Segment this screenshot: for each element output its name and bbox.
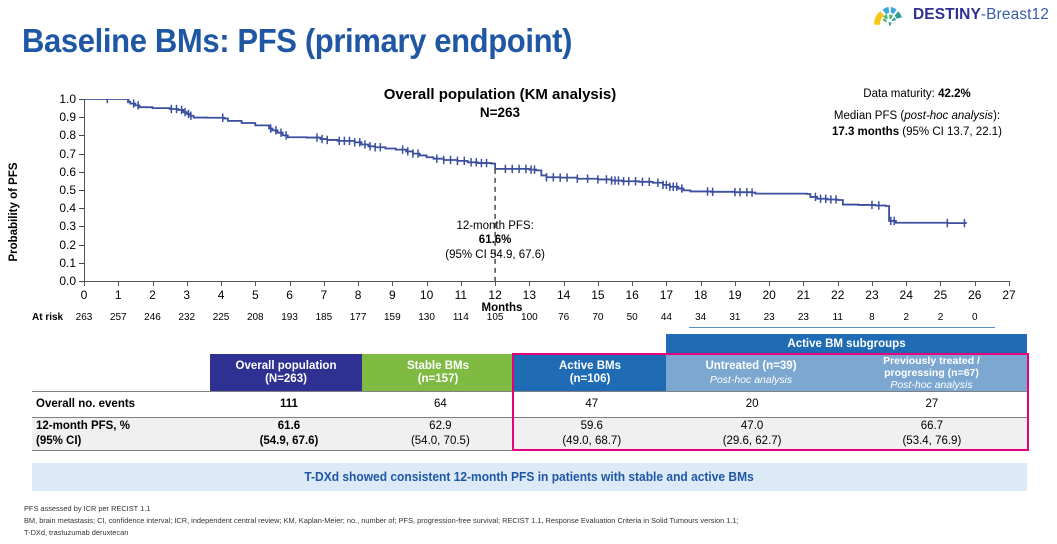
x-tick-label: 22 <box>831 288 844 302</box>
at-risk-value: 23 <box>798 312 809 323</box>
table-cell: 66.7(53.4, 76.9) <box>837 419 1027 448</box>
at-risk-value: 257 <box>110 312 127 323</box>
table-column-header: Stable BMs(n=157) <box>362 354 514 392</box>
cell-value: 62.9 <box>365 419 516 433</box>
y-tick-label: 0.5 <box>50 183 76 197</box>
y-tick-label: 0.9 <box>50 110 76 124</box>
table-cell: 61.6(54.9, 67.6) <box>213 419 364 448</box>
destiny-breast12-logo: DESTINY-Breast12 <box>872 3 1049 27</box>
y-tick-label: 0.6 <box>50 165 76 179</box>
column-header-sub: (N=263) <box>265 373 307 386</box>
table-cell: 64 <box>365 397 516 411</box>
table-divider <box>32 391 1027 392</box>
x-tick-mark <box>598 281 599 286</box>
x-tick-label: 11 <box>455 288 467 302</box>
x-tick-label: 3 <box>183 288 190 302</box>
x-tick-mark <box>940 281 941 286</box>
column-header-posthoc: Post-hoc analysis <box>710 374 792 386</box>
at-risk-value: 114 <box>453 312 469 323</box>
x-tick-mark <box>290 281 291 286</box>
at-risk-value: 70 <box>592 312 603 323</box>
y-tick-label: 0.3 <box>50 219 76 233</box>
x-tick-label: 26 <box>968 288 981 302</box>
x-tick-mark <box>153 281 154 286</box>
x-tick-label: 19 <box>728 288 741 302</box>
at-risk-value: 105 <box>487 312 504 323</box>
at-risk-value: 177 <box>350 312 367 323</box>
cell-ci: (53.4, 76.9) <box>837 434 1027 448</box>
cell-ci: (54.0, 70.5) <box>365 434 516 448</box>
x-tick-label: 9 <box>389 288 396 302</box>
at-risk-value: 2 <box>903 312 909 323</box>
x-tick-mark <box>906 281 907 286</box>
column-header-title: Stable BMs <box>407 360 469 373</box>
column-header-title: Active BMs <box>559 360 621 373</box>
cell-value: 111 <box>213 397 364 411</box>
at-risk-value: 130 <box>418 312 435 323</box>
table-divider <box>32 450 1027 451</box>
x-tick-label: 18 <box>694 288 707 302</box>
x-tick-mark <box>1009 281 1010 286</box>
km-chart: Overall population (KM analysis) N=263 D… <box>0 86 1057 296</box>
x-tick-mark <box>255 281 256 286</box>
cell-value: 47.0 <box>667 419 836 433</box>
row-label-line1: 12-month PFS, % <box>36 419 213 433</box>
y-tick-label: 1.0 <box>50 92 76 106</box>
x-tick-mark <box>324 281 325 286</box>
column-header-sub: (n=157) <box>418 373 459 386</box>
y-tick-label: 0.8 <box>50 128 76 142</box>
x-tick-mark <box>495 281 496 286</box>
table-cell: 47.0(29.6, 62.7) <box>667 419 836 448</box>
cell-value: 64 <box>365 397 516 411</box>
cell-ci: (49.0, 68.7) <box>516 434 667 448</box>
table-row: Overall no. events11164472027 <box>32 392 1027 417</box>
at-risk-value: 34 <box>695 312 706 323</box>
x-tick-mark <box>221 281 222 286</box>
conclusion-text: T-DXd showed consistent 12-month PFS in … <box>305 470 754 484</box>
x-tick-label: 16 <box>625 288 638 302</box>
x-tick-label: 5 <box>252 288 259 302</box>
column-header-sub: (n=106) <box>570 373 611 386</box>
table-column-header: Active BMs(n=106) <box>514 354 666 392</box>
table-cell: 47 <box>516 397 667 411</box>
x-tick-mark <box>529 281 530 286</box>
table-group-header: Active BM subgroups <box>666 334 1027 354</box>
at-risk-value: 100 <box>521 312 538 323</box>
at-risk-value: 232 <box>178 312 195 323</box>
x-tick-mark <box>975 281 976 286</box>
x-axis-line <box>84 281 1009 282</box>
y-axis-label: Probability of PFS <box>8 162 20 261</box>
y-tick-label: 0.7 <box>50 147 76 161</box>
footnote-3: T-DXd, trastuzumab deruxtecan <box>24 527 1044 539</box>
at-risk-value: 44 <box>661 312 672 323</box>
at-risk-value: 76 <box>558 312 569 323</box>
at-risk-value: 225 <box>213 312 230 323</box>
row-label-line2: (95% CI) <box>36 434 213 448</box>
twelve-month-annotation: 12-month PFS: 61.6% (95% CI 54.9, 67.6) <box>410 219 580 262</box>
x-tick-mark <box>461 281 462 286</box>
cell-value: 27 <box>837 397 1027 411</box>
at-risk-value: 263 <box>76 312 93 323</box>
twelve-month-value: 61.6% <box>410 233 580 247</box>
at-risk-value: 31 <box>729 312 740 323</box>
x-tick-label: 27 <box>1002 288 1015 302</box>
table-row: 12-month PFS, %(95% CI)61.6(54.9, 67.6)6… <box>32 417 1027 450</box>
x-tick-label: 23 <box>865 288 878 302</box>
conclusion-banner: T-DXd showed consistent 12-month PFS in … <box>32 463 1027 491</box>
x-tick-label: 4 <box>218 288 225 302</box>
footnotes: PFS assessed by ICR per RECIST 1.1 BM, b… <box>24 503 1044 540</box>
page-title: Baseline BMs: PFS (primary endpoint) <box>22 22 572 60</box>
x-tick-label: 14 <box>557 288 570 302</box>
row-label: Overall no. events <box>32 397 213 411</box>
x-tick-label: 12 <box>488 288 501 302</box>
at-risk-value: 11 <box>833 312 843 323</box>
table-column-header: Previously treated /progressing (n=67)Po… <box>836 354 1027 392</box>
x-tick-label: 7 <box>320 288 327 302</box>
footnote-1: PFS assessed by ICR per RECIST 1.1 <box>24 503 1044 515</box>
column-header-title: Overall population <box>236 360 337 373</box>
at-risk-value: 193 <box>281 312 298 323</box>
slide: DESTINY-Breast12 Baseline BMs: PFS (prim… <box>0 0 1057 544</box>
column-header-title2: progressing (n=67) <box>884 367 979 379</box>
at-risk-value: 2 <box>938 312 944 323</box>
x-tick-label: 17 <box>660 288 673 302</box>
logo-fan-icon <box>872 3 908 27</box>
table-cell: 20 <box>667 397 836 411</box>
x-tick-label: 1 <box>115 288 122 302</box>
at-risk-value: 208 <box>247 312 264 323</box>
x-tick-mark <box>769 281 770 286</box>
at-risk-value: 8 <box>869 312 875 323</box>
cell-value: 47 <box>516 397 667 411</box>
x-tick-mark <box>427 281 428 286</box>
x-tick-mark <box>666 281 667 286</box>
x-tick-mark <box>632 281 633 286</box>
x-tick-mark <box>803 281 804 286</box>
x-tick-mark <box>187 281 188 286</box>
at-risk-value: 159 <box>384 312 401 323</box>
at-risk-value: 0 <box>972 312 978 323</box>
x-tick-label: 25 <box>934 288 947 302</box>
cell-value: 20 <box>667 397 836 411</box>
column-header-title: Previously treated / <box>883 355 980 367</box>
x-tick-label: 2 <box>149 288 156 302</box>
table-divider <box>32 417 1027 418</box>
table-column-header: Untreated (n=39)Post-hoc analysis <box>666 354 836 392</box>
at-risk-underline <box>689 327 996 328</box>
x-tick-label: 15 <box>591 288 604 302</box>
cell-ci: (54.9, 67.6) <box>213 434 364 448</box>
at-risk-label: At risk <box>32 312 63 323</box>
cell-ci: (29.6, 62.7) <box>667 434 836 448</box>
twelve-month-label: 12-month PFS: <box>410 219 580 233</box>
x-tick-mark <box>84 281 85 286</box>
at-risk-value: 23 <box>764 312 775 323</box>
at-risk-value: 50 <box>627 312 638 323</box>
y-tick-label: 0.4 <box>50 201 76 215</box>
at-risk-row: At risk 26325724623222520819318517715913… <box>0 312 1057 330</box>
table-column-header: Overall population(N=263) <box>210 354 362 392</box>
x-tick-label: 13 <box>523 288 536 302</box>
cell-value: 61.6 <box>213 419 364 433</box>
x-tick-mark <box>392 281 393 286</box>
cell-value: 66.7 <box>837 419 1027 433</box>
table-cell: 27 <box>837 397 1027 411</box>
x-tick-label: 0 <box>81 288 88 302</box>
column-header-title: Untreated (n=39) <box>705 360 796 373</box>
at-risk-value: 185 <box>315 312 332 323</box>
x-tick-mark <box>564 281 565 286</box>
y-tick-label: 0.0 <box>50 274 76 288</box>
logo-text: DESTINY-Breast12 <box>913 6 1049 24</box>
y-tick-label: 0.1 <box>50 256 76 270</box>
x-tick-mark <box>358 281 359 286</box>
cell-value: 59.6 <box>516 419 667 433</box>
row-label: 12-month PFS, %(95% CI) <box>32 419 213 448</box>
x-tick-mark <box>118 281 119 286</box>
table-cell: 111 <box>213 397 364 411</box>
x-tick-label: 24 <box>900 288 913 302</box>
km-curve <box>84 99 966 224</box>
x-tick-label: 10 <box>420 288 433 302</box>
at-risk-value: 246 <box>144 312 161 323</box>
table-cell: 62.9(54.0, 70.5) <box>365 419 516 448</box>
x-tick-label: 20 <box>762 288 775 302</box>
x-tick-label: 6 <box>286 288 293 302</box>
x-tick-mark <box>735 281 736 286</box>
twelve-month-ci: (95% CI 54.9, 67.6) <box>410 248 580 262</box>
row-label-line1: Overall no. events <box>36 397 213 411</box>
x-tick-label: 8 <box>355 288 362 302</box>
logo-text-thin: -Breast12 <box>981 6 1049 23</box>
x-tick-mark <box>838 281 839 286</box>
logo-text-bold: DESTINY <box>913 6 981 23</box>
table-cell: 59.6(49.0, 68.7) <box>516 419 667 448</box>
x-tick-mark <box>701 281 702 286</box>
column-header-posthoc: Post-hoc analysis <box>890 379 972 391</box>
y-tick-label: 0.2 <box>50 238 76 252</box>
x-tick-mark <box>872 281 873 286</box>
x-tick-label: 21 <box>797 288 810 302</box>
footnote-2: BM, brain metastasis; CI, confidence int… <box>24 515 1044 527</box>
